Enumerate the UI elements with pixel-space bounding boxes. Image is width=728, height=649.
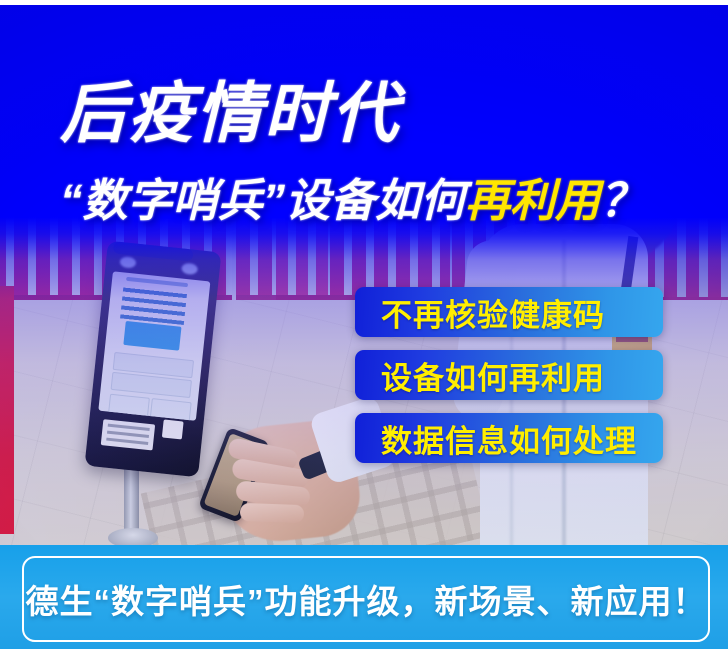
topic-pill-health-code[interactable]: 不再核验健康码 bbox=[355, 287, 663, 337]
bottom-banner: 德生“数字哨兵”功能升级，新场景、新应用！ bbox=[0, 545, 728, 649]
subtitle-tail: ？ bbox=[600, 175, 645, 226]
subtitle-highlight: 再利用 bbox=[465, 175, 600, 226]
bottom-banner-text: 德生“数字哨兵”功能升级，新场景、新应用！ bbox=[26, 575, 707, 623]
topic-pill-label: 数据信息如何处理 bbox=[355, 416, 637, 461]
topic-pill-label: 设备如何再利用 bbox=[355, 353, 605, 398]
topic-pill-device-reuse[interactable]: 设备如何再利用 bbox=[355, 350, 663, 400]
bottom-banner-frame: 德生“数字哨兵”功能升级，新场景、新应用！ bbox=[22, 556, 710, 642]
page-title: 后疫情时代 bbox=[60, 78, 400, 148]
poster-root: 后疫情时代 “数字哨兵”设备如何再利用？ 不再核验健康码 设备如何再利用 数据信… bbox=[0, 0, 728, 649]
topic-pill-data-handling[interactable]: 数据信息如何处理 bbox=[355, 413, 663, 463]
top-white-strip bbox=[0, 0, 728, 5]
page-subtitle: “数字哨兵”设备如何再利用？ bbox=[60, 176, 645, 226]
topic-pill-label: 不再核验健康码 bbox=[355, 290, 605, 335]
subtitle-lead: “数字哨兵”设备如何 bbox=[60, 175, 465, 226]
topic-pill-list: 不再核验健康码 设备如何再利用 数据信息如何处理 bbox=[355, 287, 667, 476]
